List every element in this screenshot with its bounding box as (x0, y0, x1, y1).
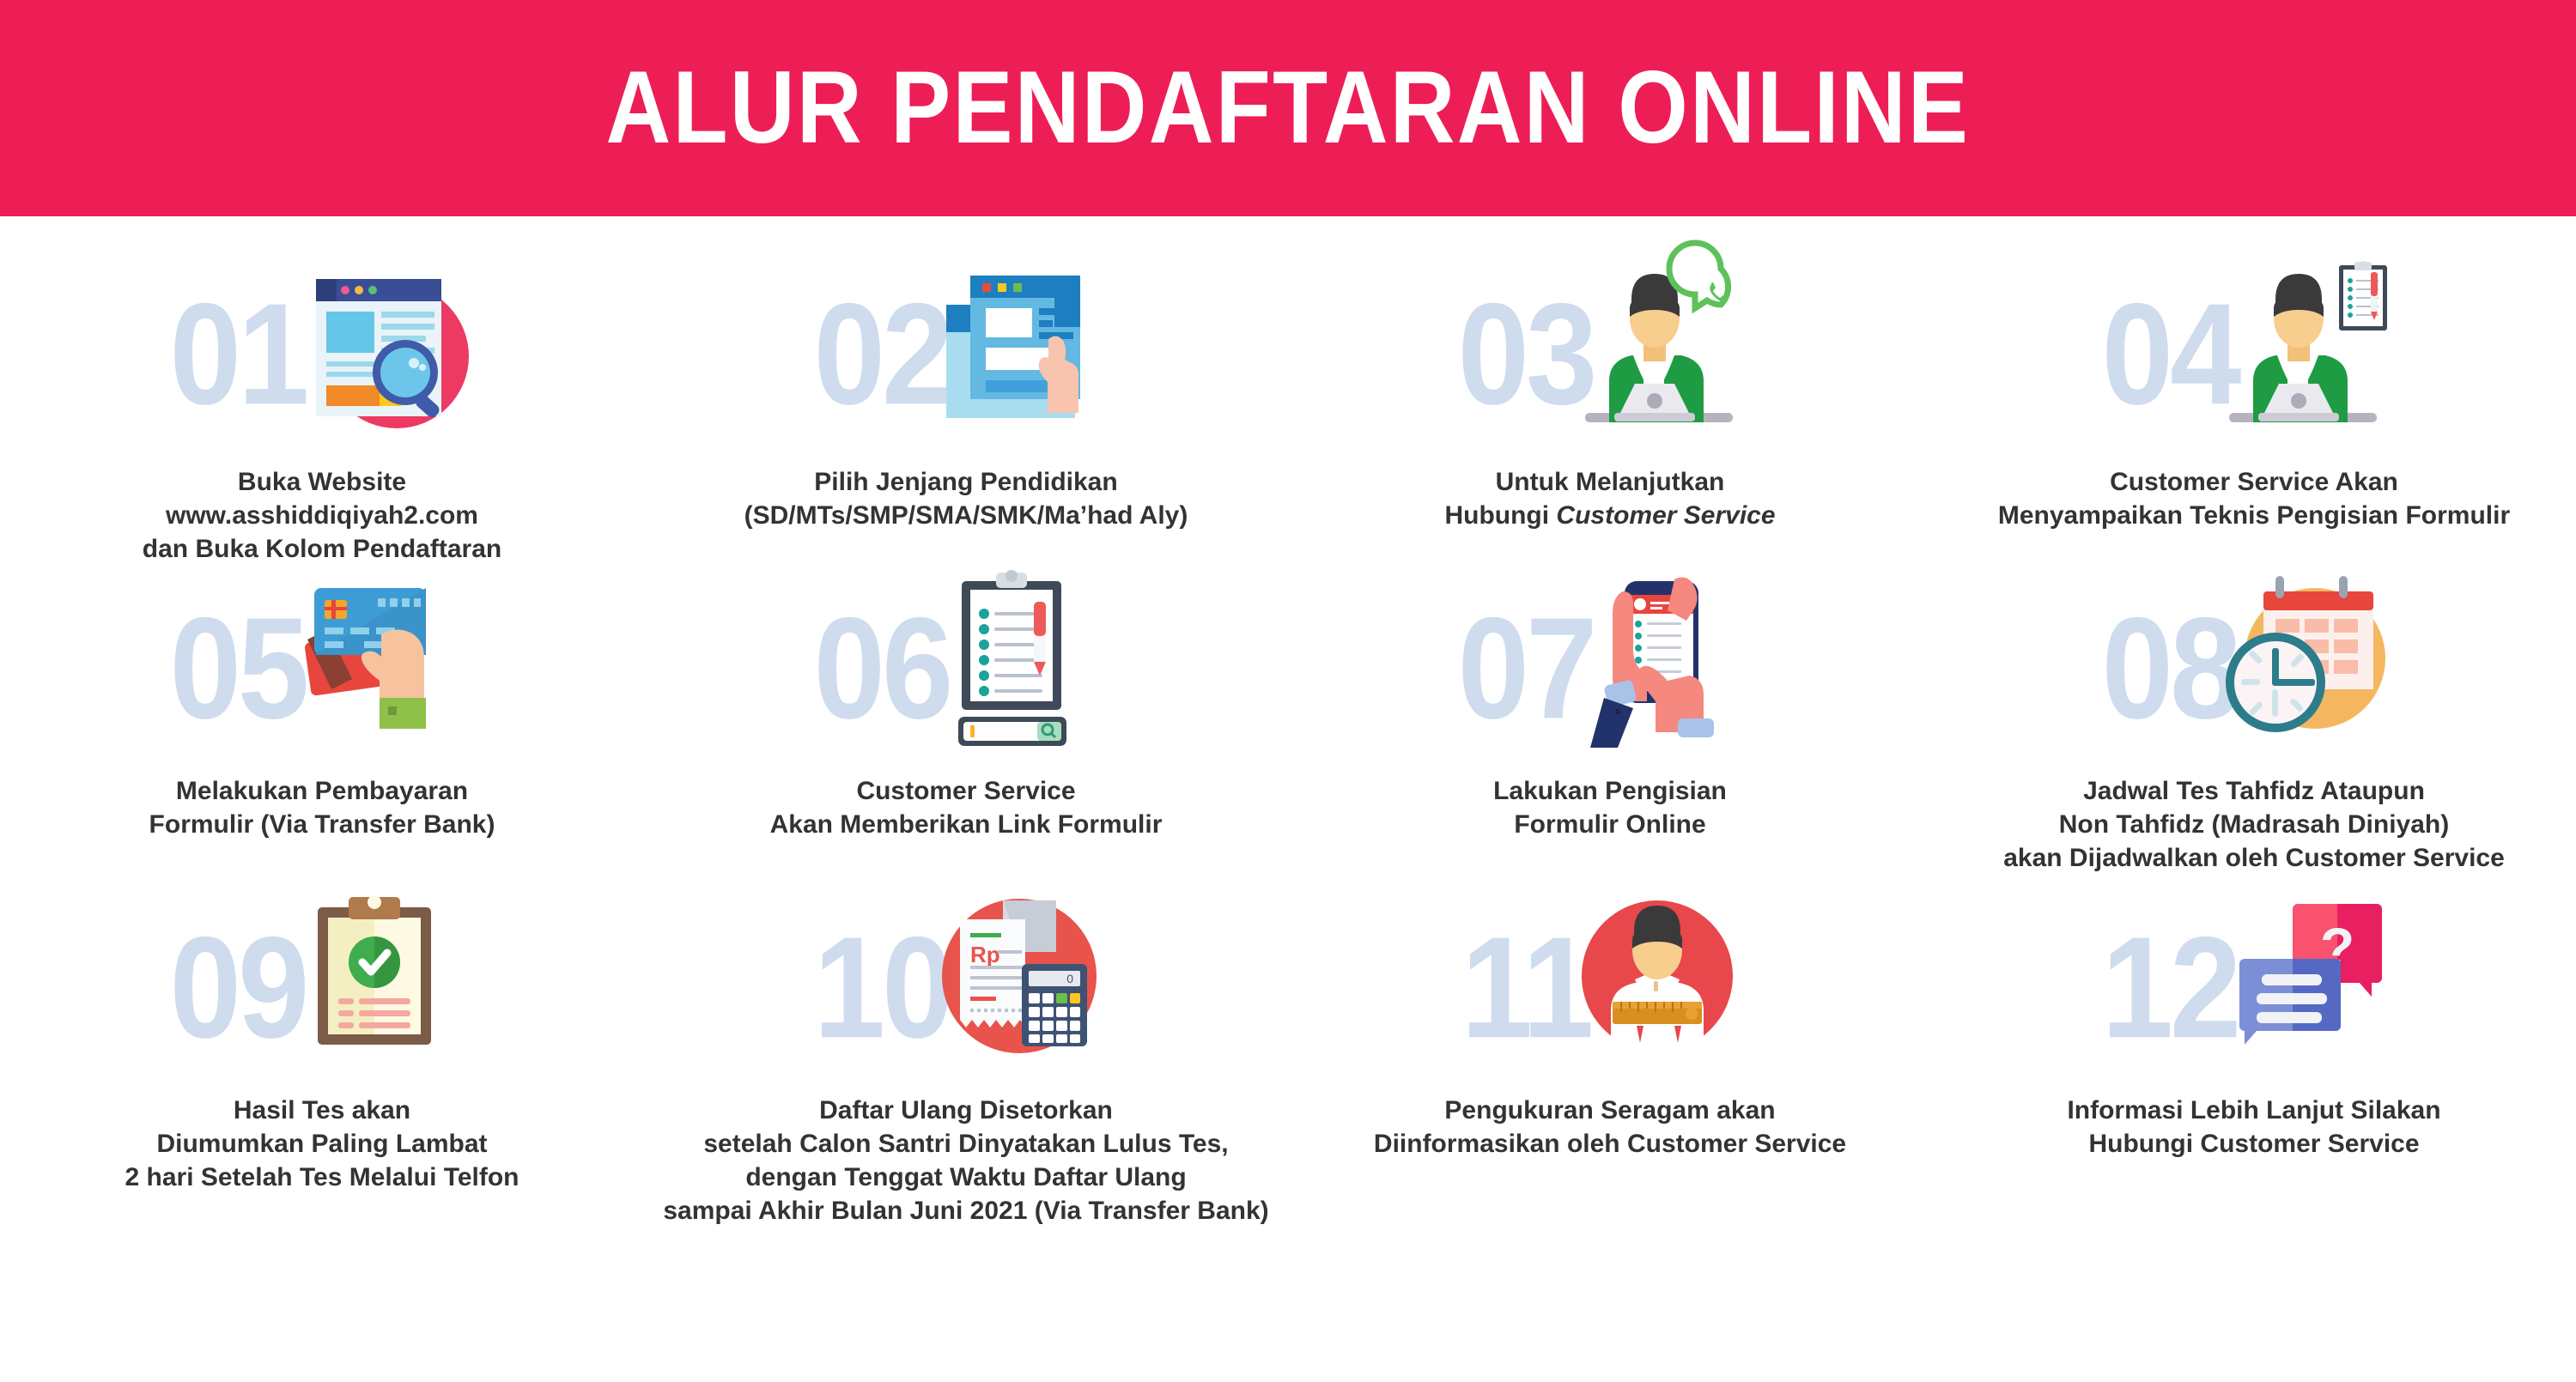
step-card-12: 12 ? Informasi Lebih Lanjut Silakan Hubu… (1932, 893, 2576, 1212)
step-caption-03: Untuk MelanjutkanHubungi Customer Servic… (1301, 465, 1919, 532)
step-caption-09: Hasil Tes akan Diumumkan Paling Lambat 2… (13, 1094, 631, 1194)
calculator-display-value: 0 (1067, 972, 1074, 985)
person-laptop-whatsapp-icon (1564, 255, 1762, 452)
step-art-11: 11 (1288, 893, 1932, 1082)
step-card-10: 10 Rp (644, 893, 1288, 1212)
infographic-page: ALUR PENDAFTARAN ONLINE 01 (0, 0, 2576, 1382)
step-art-06: 06 (644, 573, 1288, 762)
step-card-06: 06 (644, 573, 1288, 893)
step-card-02: 02 (644, 254, 1288, 573)
step-card-01: 01 (0, 254, 644, 573)
person-laptop-clipboard-icon (2208, 255, 2406, 452)
step-card-07: 07 (1288, 573, 1932, 893)
step-caption-06: Customer Service Akan Memberikan Link Fo… (657, 774, 1275, 841)
step-art-08: 08 (1932, 573, 2576, 762)
person-ruler-measure-icon (1561, 888, 1759, 1086)
step-card-04: 04 (1932, 254, 2576, 573)
browser-click-icon (920, 255, 1118, 452)
step-art-01: 01 (0, 254, 644, 453)
step-caption-07: Lakukan Pengisian Formulir Online (1301, 774, 1919, 841)
step-art-03: 03 (1288, 254, 1932, 453)
steps-grid: 01 (0, 216, 2576, 1212)
calendar-clock-icon (2208, 569, 2406, 767)
step-caption-01: Buka Website www.asshiddiqiyah2.com dan … (13, 465, 631, 566)
step-caption-03-line2-prefix: Hubungi (1444, 501, 1556, 530)
step-art-05: 05 (0, 573, 644, 762)
chat-bubbles-question-icon: ? (2208, 888, 2406, 1086)
step-caption-04: Customer Service Akan Menyampaikan Tekni… (1945, 465, 2563, 532)
step-art-12: 12 ? (1932, 893, 2576, 1082)
step-card-09: 09 (0, 893, 644, 1212)
hand-credit-card-icon (276, 569, 474, 767)
step-caption-03-line1: Untuk Melanjutkan (1496, 468, 1725, 496)
step-art-04: 04 (1932, 254, 2576, 453)
step-caption-12: Informasi Lebih Lanjut Silakan Hubungi C… (1945, 1094, 2563, 1161)
step-caption-10: Daftar Ulang Disetorkan setelah Calon Sa… (657, 1094, 1275, 1227)
hands-phone-form-icon (1564, 569, 1762, 767)
step-caption-03-line2-italic: Customer Service (1556, 501, 1775, 530)
browser-search-icon (276, 255, 474, 452)
step-art-07: 07 (1288, 573, 1932, 762)
step-caption-08: Jadwal Tes Tahfidz Ataupun Non Tahfidz (… (1945, 774, 2563, 875)
step-card-03: 03 (1288, 254, 1932, 573)
step-art-10: 10 Rp (644, 893, 1288, 1082)
step-card-08: 08 (1932, 573, 2576, 893)
receipt-calculator-icon: Rp 0 (920, 888, 1118, 1086)
step-card-05: 05 (0, 573, 644, 893)
step-card-11: 11 (1288, 893, 1932, 1212)
currency-symbol-label: Rp (970, 942, 1000, 967)
clipboard-searchbar-icon (920, 569, 1118, 767)
step-caption-02: Pilih Jenjang Pendidikan (SD/MTs/SMP/SMA… (657, 465, 1275, 532)
step-art-02: 02 (644, 254, 1288, 453)
clipboard-check-icon (276, 888, 474, 1086)
page-header: ALUR PENDAFTARAN ONLINE (0, 0, 2576, 216)
page-title: ALUR PENDAFTARAN ONLINE (606, 50, 1971, 167)
step-art-09: 09 (0, 893, 644, 1082)
step-caption-11: Pengukuran Seragam akan Diinformasikan o… (1301, 1094, 1919, 1161)
step-caption-05: Melakukan Pembayaran Formulir (Via Trans… (13, 774, 631, 841)
